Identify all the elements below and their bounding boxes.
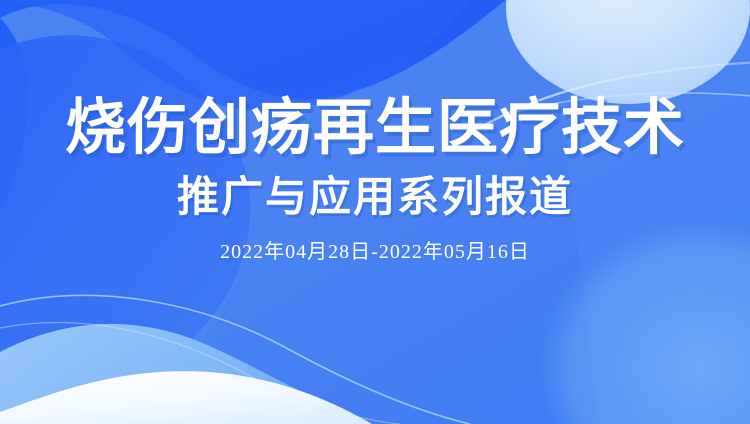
banner-text-stack: 烧伤创疡再生医疗技术 推广与应用系列报道 2022年04月28日-2022年05… <box>0 0 750 424</box>
promo-banner: 烧伤创疡再生医疗技术 推广与应用系列报道 2022年04月28日-2022年05… <box>0 0 750 424</box>
banner-date-range: 2022年04月28日-2022年05月16日 <box>220 242 530 262</box>
banner-sub-title: 推广与应用系列报道 <box>177 176 573 218</box>
banner-main-title: 烧伤创疡再生医疗技术 <box>65 97 685 158</box>
